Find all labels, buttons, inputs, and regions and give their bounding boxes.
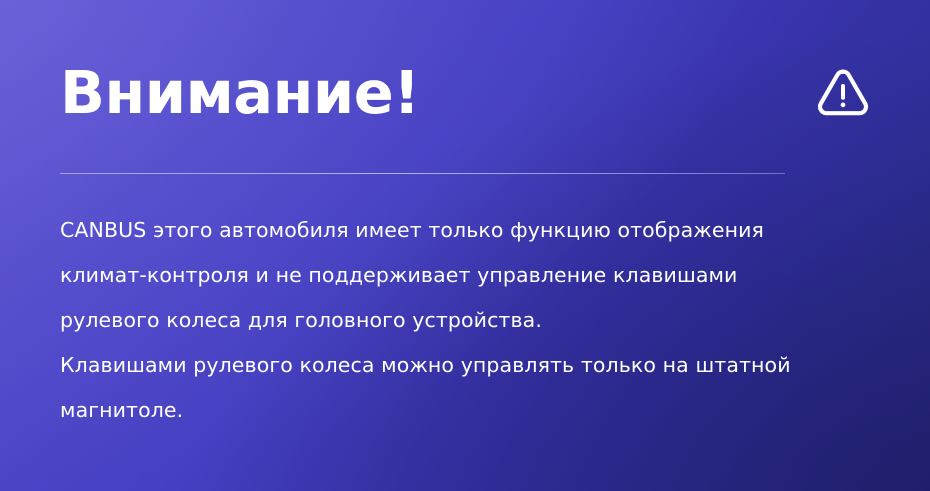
banner-header: Внимание! <box>60 52 872 132</box>
header-divider <box>60 173 785 174</box>
message-line: климат-контроля и не поддерживает управл… <box>60 253 880 298</box>
warning-message: CANBUS этого автомобиля имеет только фун… <box>60 208 880 433</box>
warning-triangle-icon <box>814 63 872 121</box>
message-line: рулевого колеса для головного устройства… <box>60 298 880 343</box>
page-title: Внимание! <box>60 63 420 122</box>
warning-banner: Внимание! CANBUS этого автомобиля имеет … <box>0 0 930 491</box>
message-line: Клавишами рулевого колеса можно управлят… <box>60 343 880 388</box>
message-line: магнитоле. <box>60 388 880 433</box>
message-line: CANBUS этого автомобиля имеет только фун… <box>60 208 880 253</box>
banner-content: Внимание! CANBUS этого автомобиля имеет … <box>0 0 930 491</box>
